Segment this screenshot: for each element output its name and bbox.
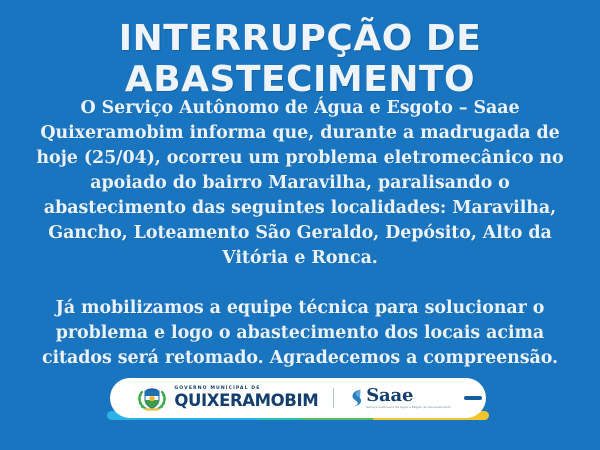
water-drop-icon (349, 388, 364, 408)
poster-body: O Serviço Autônomo de Água e Esgoto – Sa… (22, 96, 578, 371)
poster-title-line-2: ABASTECIMENTO (0, 59, 600, 100)
footer-logo-bar: GOVERNO MUNICIPAL DE QUIXERAMOBIM Saae (110, 378, 486, 418)
poster-title: INTERRUPÇÃO DE ABASTECIMENTO (0, 18, 600, 100)
poster-title-line-1: INTERRUPÇÃO DE (0, 18, 600, 59)
announcement-poster: INTERRUPÇÃO DE ABASTECIMENTO O Serviço A… (0, 0, 600, 450)
logo-divider (333, 388, 334, 408)
government-wordmark: GOVERNO MUNICIPAL DE QUIXERAMOBIM (174, 387, 318, 410)
poster-footer: GOVERNO MUNICIPAL DE QUIXERAMOBIM Saae (0, 378, 600, 428)
quixeramobim-coat-of-arms-icon (137, 384, 167, 412)
government-city-label: QUIXERAMOBIM (174, 393, 318, 410)
saae-wordmark: Saae Serviço Autônomo de Água e Esgoto d… (366, 387, 450, 409)
saae-logo: Saae Serviço Autônomo de Água e Esgoto d… (349, 387, 450, 409)
logo-group: GOVERNO MUNICIPAL DE QUIXERAMOBIM Saae (137, 384, 450, 412)
body-paragraph-1: O Serviço Autônomo de Água e Esgoto – Sa… (22, 96, 578, 271)
saae-name-label: Saae (366, 387, 413, 405)
body-paragraph-2: Já mobilizamos a equipe técnica para sol… (22, 296, 578, 371)
footer-accent-dash (464, 396, 482, 400)
saae-tagline-label: Serviço Autônomo de Água e Esgoto de Qui… (366, 406, 450, 409)
